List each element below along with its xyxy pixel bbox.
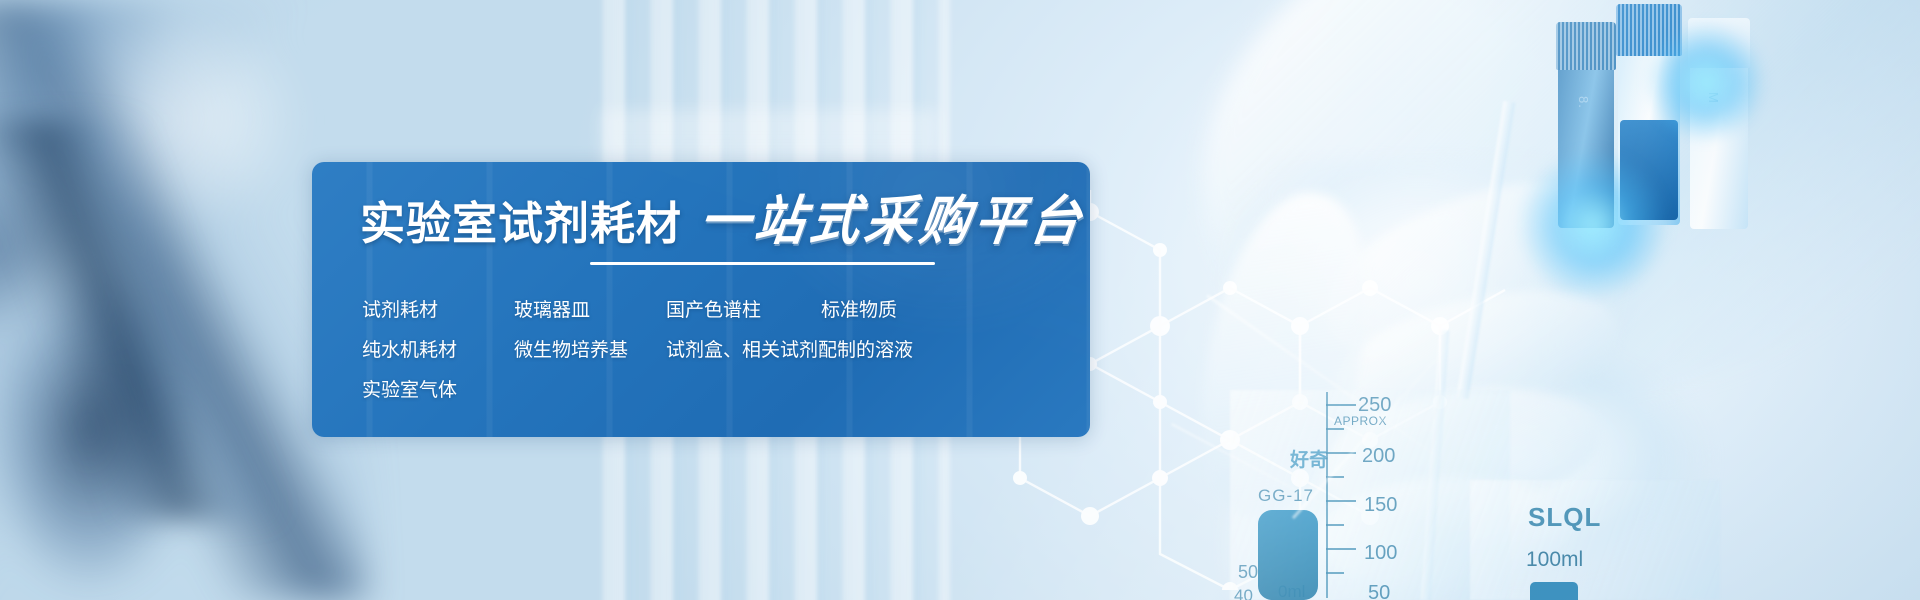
beaker-tick: [1326, 404, 1356, 406]
beaker-brand-logo: 好奇: [1290, 445, 1328, 472]
beaker-secondary-liquid: [1530, 582, 1578, 600]
beaker-primary: 好奇 GG-17 250 APPROX 200 150 100 50 50 40…: [1230, 390, 1510, 600]
category-item-domestic-chromatography-column[interactable]: 国产色谱柱: [666, 300, 821, 323]
beaker-tick: [1326, 524, 1344, 526]
category-list: 试剂耗材 玻璃器皿 国产色谱柱 标准物质 纯水机耗材 微生物培养基 试剂盒、相关…: [362, 300, 1062, 402]
headline-brush-text: 一站式采购平台: [697, 195, 1089, 248]
beaker-scale-50: 50: [1368, 582, 1390, 600]
beaker-scale-150: 150: [1364, 494, 1397, 517]
beaker-secondary-brand: SLQL: [1528, 502, 1601, 533]
lab-reagent-banner: 8. M 好奇 GG-17 250 APPROX 200 150 100 50 …: [0, 0, 1920, 600]
category-item-glassware[interactable]: 玻璃器皿: [514, 300, 666, 323]
page-title: 实验室试剂耗材 一站式采购平台: [360, 196, 1085, 246]
blurred-lab-equipment-left-secondary: [0, 120, 280, 520]
beaker-scale-axis: [1326, 392, 1328, 598]
category-item-microbial-culture-media[interactable]: 微生物培养基: [514, 340, 666, 363]
category-item-laboratory-gases[interactable]: 实验室气体: [362, 380, 514, 403]
beaker-tick: [1326, 572, 1344, 574]
beaker-secondary: SLQL 100ml: [1470, 480, 1720, 600]
beaker-tick: [1326, 500, 1356, 502]
category-row: 纯水机耗材 微生物培养基 试剂盒、相关试剂配制的溶液: [362, 340, 1062, 363]
category-item-reference-materials[interactable]: 标准物质: [821, 300, 897, 323]
vial-highlight-glow: [1646, 22, 1766, 142]
beaker-scale-40: 40: [1234, 586, 1253, 600]
cryovial-left-scale: 8.: [1576, 96, 1591, 109]
promo-panel: 实验室试剂耗材 一站式采购平台 试剂耗材 玻璃器皿 国产色谱柱 标准物质 纯水机…: [312, 162, 1090, 437]
beaker-secondary-body: [1470, 480, 1720, 600]
vial-highlight-glow: [1518, 150, 1668, 300]
beaker-tick: [1326, 548, 1356, 550]
cryovial-left-cap: [1556, 22, 1616, 70]
beaker-scale-50-left: 50: [1238, 562, 1258, 583]
beaker-scale-200: 200: [1362, 445, 1395, 468]
category-item-reagent-kits-solutions[interactable]: 试剂盒、相关试剂配制的溶液: [666, 340, 913, 363]
category-item-water-purifier-consumables[interactable]: 纯水机耗材: [362, 340, 514, 363]
category-row: 实验室气体: [362, 380, 1062, 403]
headline-underline: [590, 262, 935, 265]
beaker-blue-liquid: [1258, 510, 1318, 600]
beaker-scale-100: 100: [1364, 542, 1397, 565]
category-row: 试剂耗材 玻璃器皿 国产色谱柱 标准物质: [362, 300, 1062, 323]
beaker-secondary-volume: 100ml: [1526, 548, 1583, 572]
headline-bold-text: 实验室试剂耗材: [360, 201, 682, 246]
beaker-tick: [1326, 428, 1344, 430]
category-item-reagent-consumables[interactable]: 试剂耗材: [362, 300, 514, 323]
